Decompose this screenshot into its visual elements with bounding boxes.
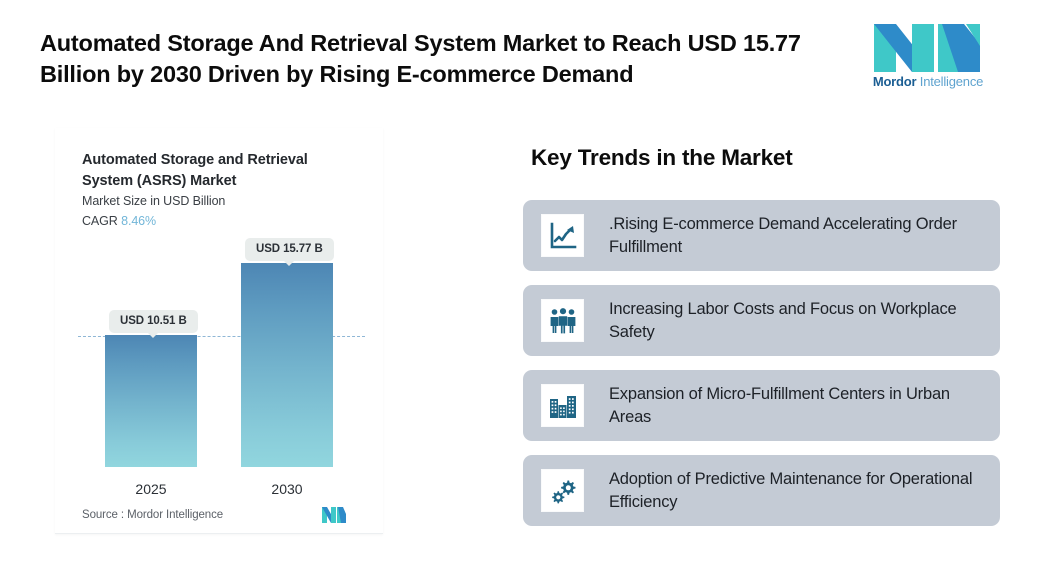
page-title: Automated Storage And Retrieval System M… — [40, 28, 820, 90]
trend-label: .Rising E-commerce Demand Accelerating O… — [609, 213, 986, 259]
trend-card-labor-costs[interactable]: Increasing Labor Costs and Focus on Work… — [523, 285, 1000, 356]
mordor-intelligence-logo: Mordor Intelligence — [866, 24, 988, 96]
key-trends-list: .Rising E-commerce Demand Accelerating O… — [523, 200, 1000, 540]
logo-wordmark-bold: Mordor — [873, 74, 917, 89]
x-axis-tick-2030: 2030 — [241, 481, 333, 497]
bar-value-label-2025: USD 10.51 B — [109, 310, 198, 333]
source-logo-icon — [321, 507, 347, 523]
chart-source-label: Source : Mordor Intelligence — [82, 509, 223, 521]
bar-chart-plot: USD 10.51 B USD 15.77 B 2025 2030 — [55, 128, 383, 534]
trend-label: Adoption of Predictive Maintenance for O… — [609, 468, 986, 514]
bar-value-label-2030: USD 15.77 B — [245, 238, 334, 261]
source-logo-m-shape-icon — [321, 507, 347, 523]
bar-2025 — [105, 335, 197, 467]
trend-card-micro-fulfillment[interactable]: Expansion of Micro-Fulfillment Centers i… — [523, 370, 1000, 441]
bar-2030 — [241, 263, 333, 467]
buildings-icon — [542, 385, 583, 426]
trend-card-ecommerce[interactable]: .Rising E-commerce Demand Accelerating O… — [523, 200, 1000, 271]
trend-card-predictive-maintenance[interactable]: Adoption of Predictive Maintenance for O… — [523, 455, 1000, 526]
logo-wordmark-light: Intelligence — [916, 74, 983, 89]
x-axis-tick-2025: 2025 — [105, 481, 197, 497]
people-group-icon — [542, 300, 583, 341]
infographic-page: Automated Storage And Retrieval System M… — [0, 0, 1055, 579]
logo-mark-icon — [866, 24, 988, 72]
logo-m-shape-icon — [866, 24, 988, 72]
key-trends-heading: Key Trends in the Market — [531, 145, 793, 171]
gears-icon — [542, 470, 583, 511]
logo-wordmark: Mordor Intelligence — [868, 74, 988, 89]
line-chart-up-icon — [542, 215, 583, 256]
trend-label: Expansion of Micro-Fulfillment Centers i… — [609, 383, 986, 429]
trend-label: Increasing Labor Costs and Focus on Work… — [609, 298, 986, 344]
market-size-chart-card: Automated Storage and Retrieval System (… — [55, 128, 383, 534]
